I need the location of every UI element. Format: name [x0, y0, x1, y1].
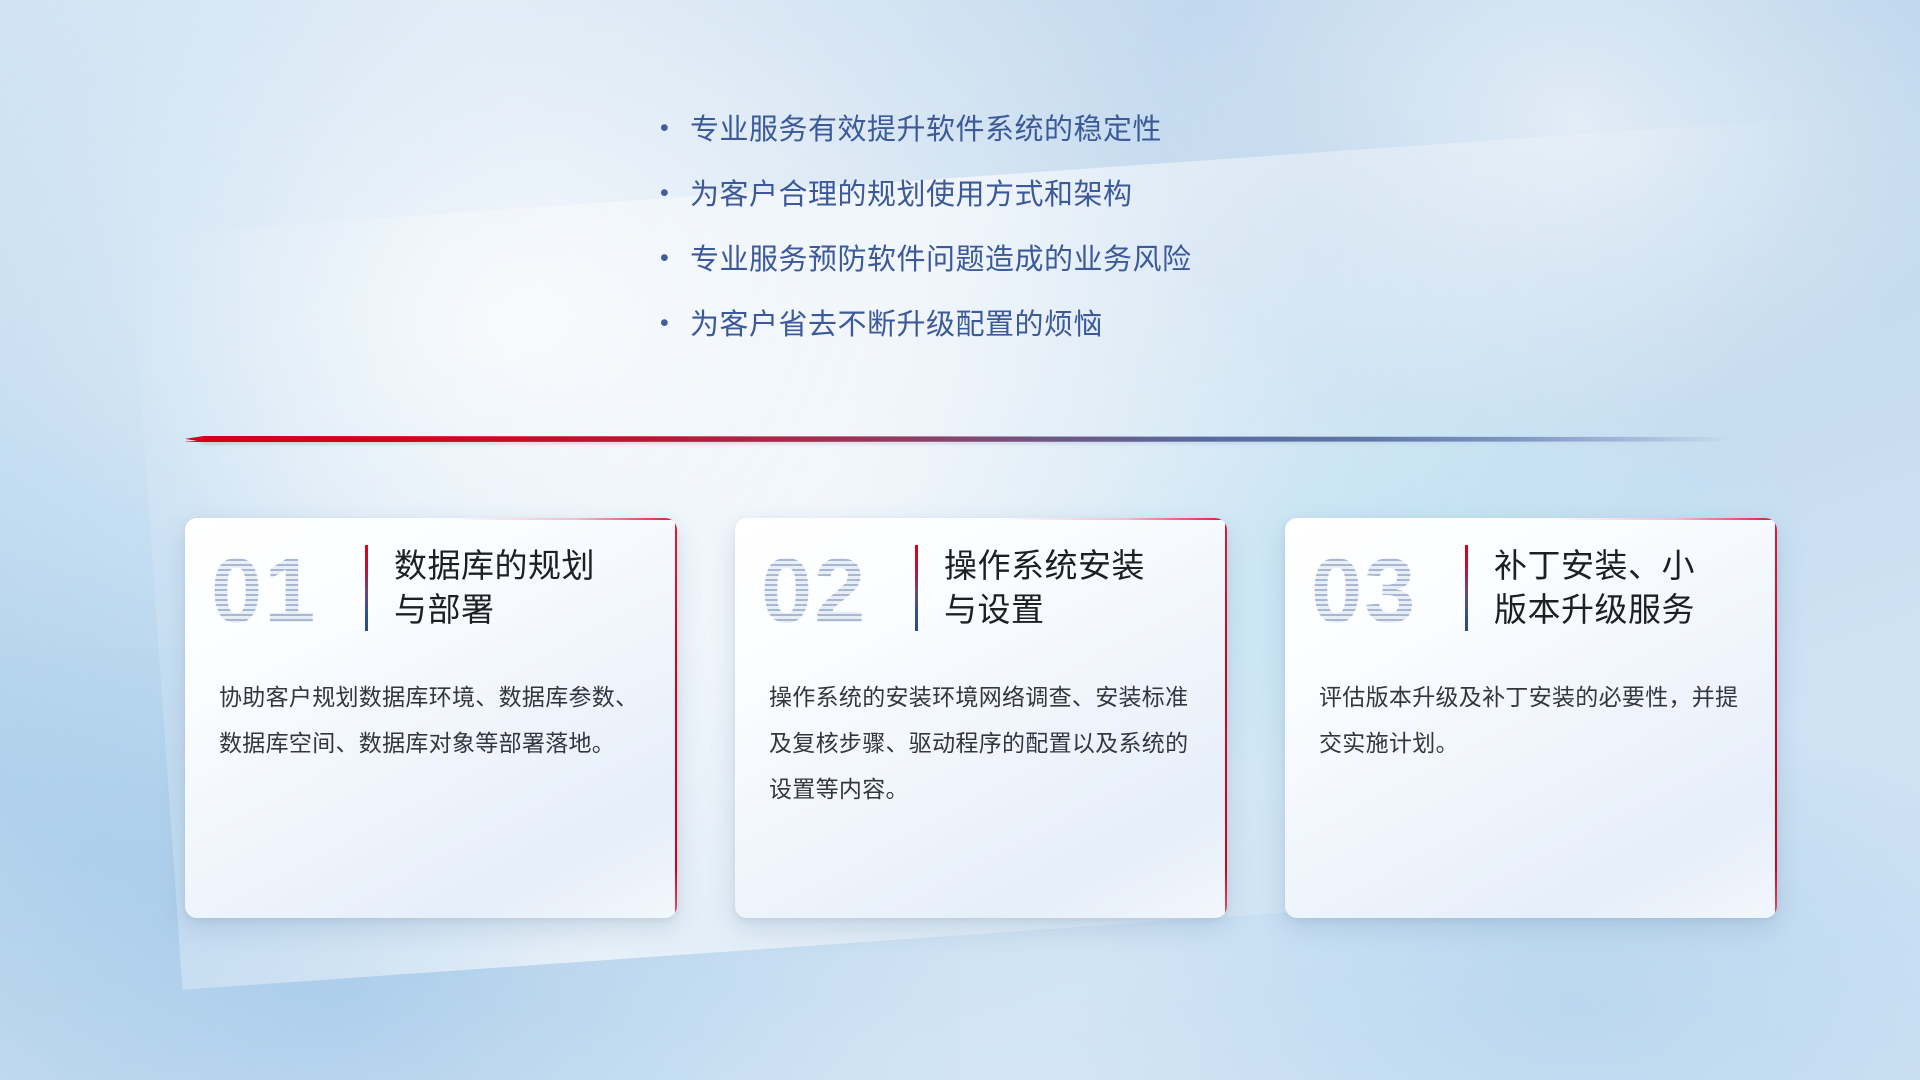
service-card-list: 01 数据库的规划 与部署 协助客户规划数据库环境、数据库参数、数据库空间、数据…: [185, 518, 1777, 918]
card-number-watermark: 03: [1311, 539, 1461, 637]
card-accent-bar: [365, 545, 368, 631]
bullet-label: 专业服务有效提升软件系统的稳定性: [690, 106, 1162, 148]
card-header: 03 补丁安装、小 版本升级服务: [1285, 518, 1777, 658]
benefits-bullet-list: • 专业服务有效提升软件系统的稳定性 • 为客户合理的规划使用方式和架构 • 专…: [660, 106, 1420, 366]
bullet-marker-icon: •: [660, 116, 690, 141]
list-item: • 专业服务预防软件问题造成的业务风险: [660, 236, 1420, 301]
list-item: • 为客户省去不断升级配置的烦恼: [660, 301, 1420, 366]
bullet-label: 为客户合理的规划使用方式和架构: [690, 171, 1133, 213]
list-item: • 为客户合理的规划使用方式和架构: [660, 171, 1420, 236]
card-title: 数据库的规划 与部署: [394, 544, 595, 631]
card-body-text: 操作系统的安装环境网络调查、安装标准及复核步骤、驱动程序的配置以及系统的设置等内…: [735, 658, 1227, 812]
bullet-marker-icon: •: [660, 311, 690, 336]
card-title: 操作系统安装 与设置: [944, 544, 1145, 631]
card-number-watermark: 02: [761, 539, 911, 637]
section-divider: [185, 432, 1730, 446]
card-header: 01 数据库的规划 与部署: [185, 518, 677, 658]
card-header: 02 操作系统安装 与设置: [735, 518, 1227, 658]
bullet-marker-icon: •: [660, 181, 690, 206]
card-accent-bar: [1465, 545, 1468, 631]
card-body-text: 评估版本升级及补丁安装的必要性，并提交实施计划。: [1285, 658, 1777, 766]
bullet-label: 专业服务预防软件问题造成的业务风险: [690, 236, 1192, 278]
service-card-02[interactable]: 02 操作系统安装 与设置 操作系统的安装环境网络调查、安装标准及复核步骤、驱动…: [735, 518, 1227, 918]
card-title: 补丁安装、小 版本升级服务: [1494, 544, 1695, 631]
service-card-03[interactable]: 03 补丁安装、小 版本升级服务 评估版本升级及补丁安装的必要性，并提交实施计划…: [1285, 518, 1777, 918]
card-accent-bar: [915, 545, 918, 631]
card-body-text: 协助客户规划数据库环境、数据库参数、数据库空间、数据库对象等部署落地。: [185, 658, 677, 766]
list-item: • 专业服务有效提升软件系统的稳定性: [660, 106, 1420, 171]
service-card-01[interactable]: 01 数据库的规划 与部署 协助客户规划数据库环境、数据库参数、数据库空间、数据…: [185, 518, 677, 918]
bullet-marker-icon: •: [660, 246, 690, 271]
divider-shadow: [200, 441, 1714, 444]
card-number-watermark: 01: [211, 539, 361, 637]
bullet-label: 为客户省去不断升级配置的烦恼: [690, 301, 1103, 343]
